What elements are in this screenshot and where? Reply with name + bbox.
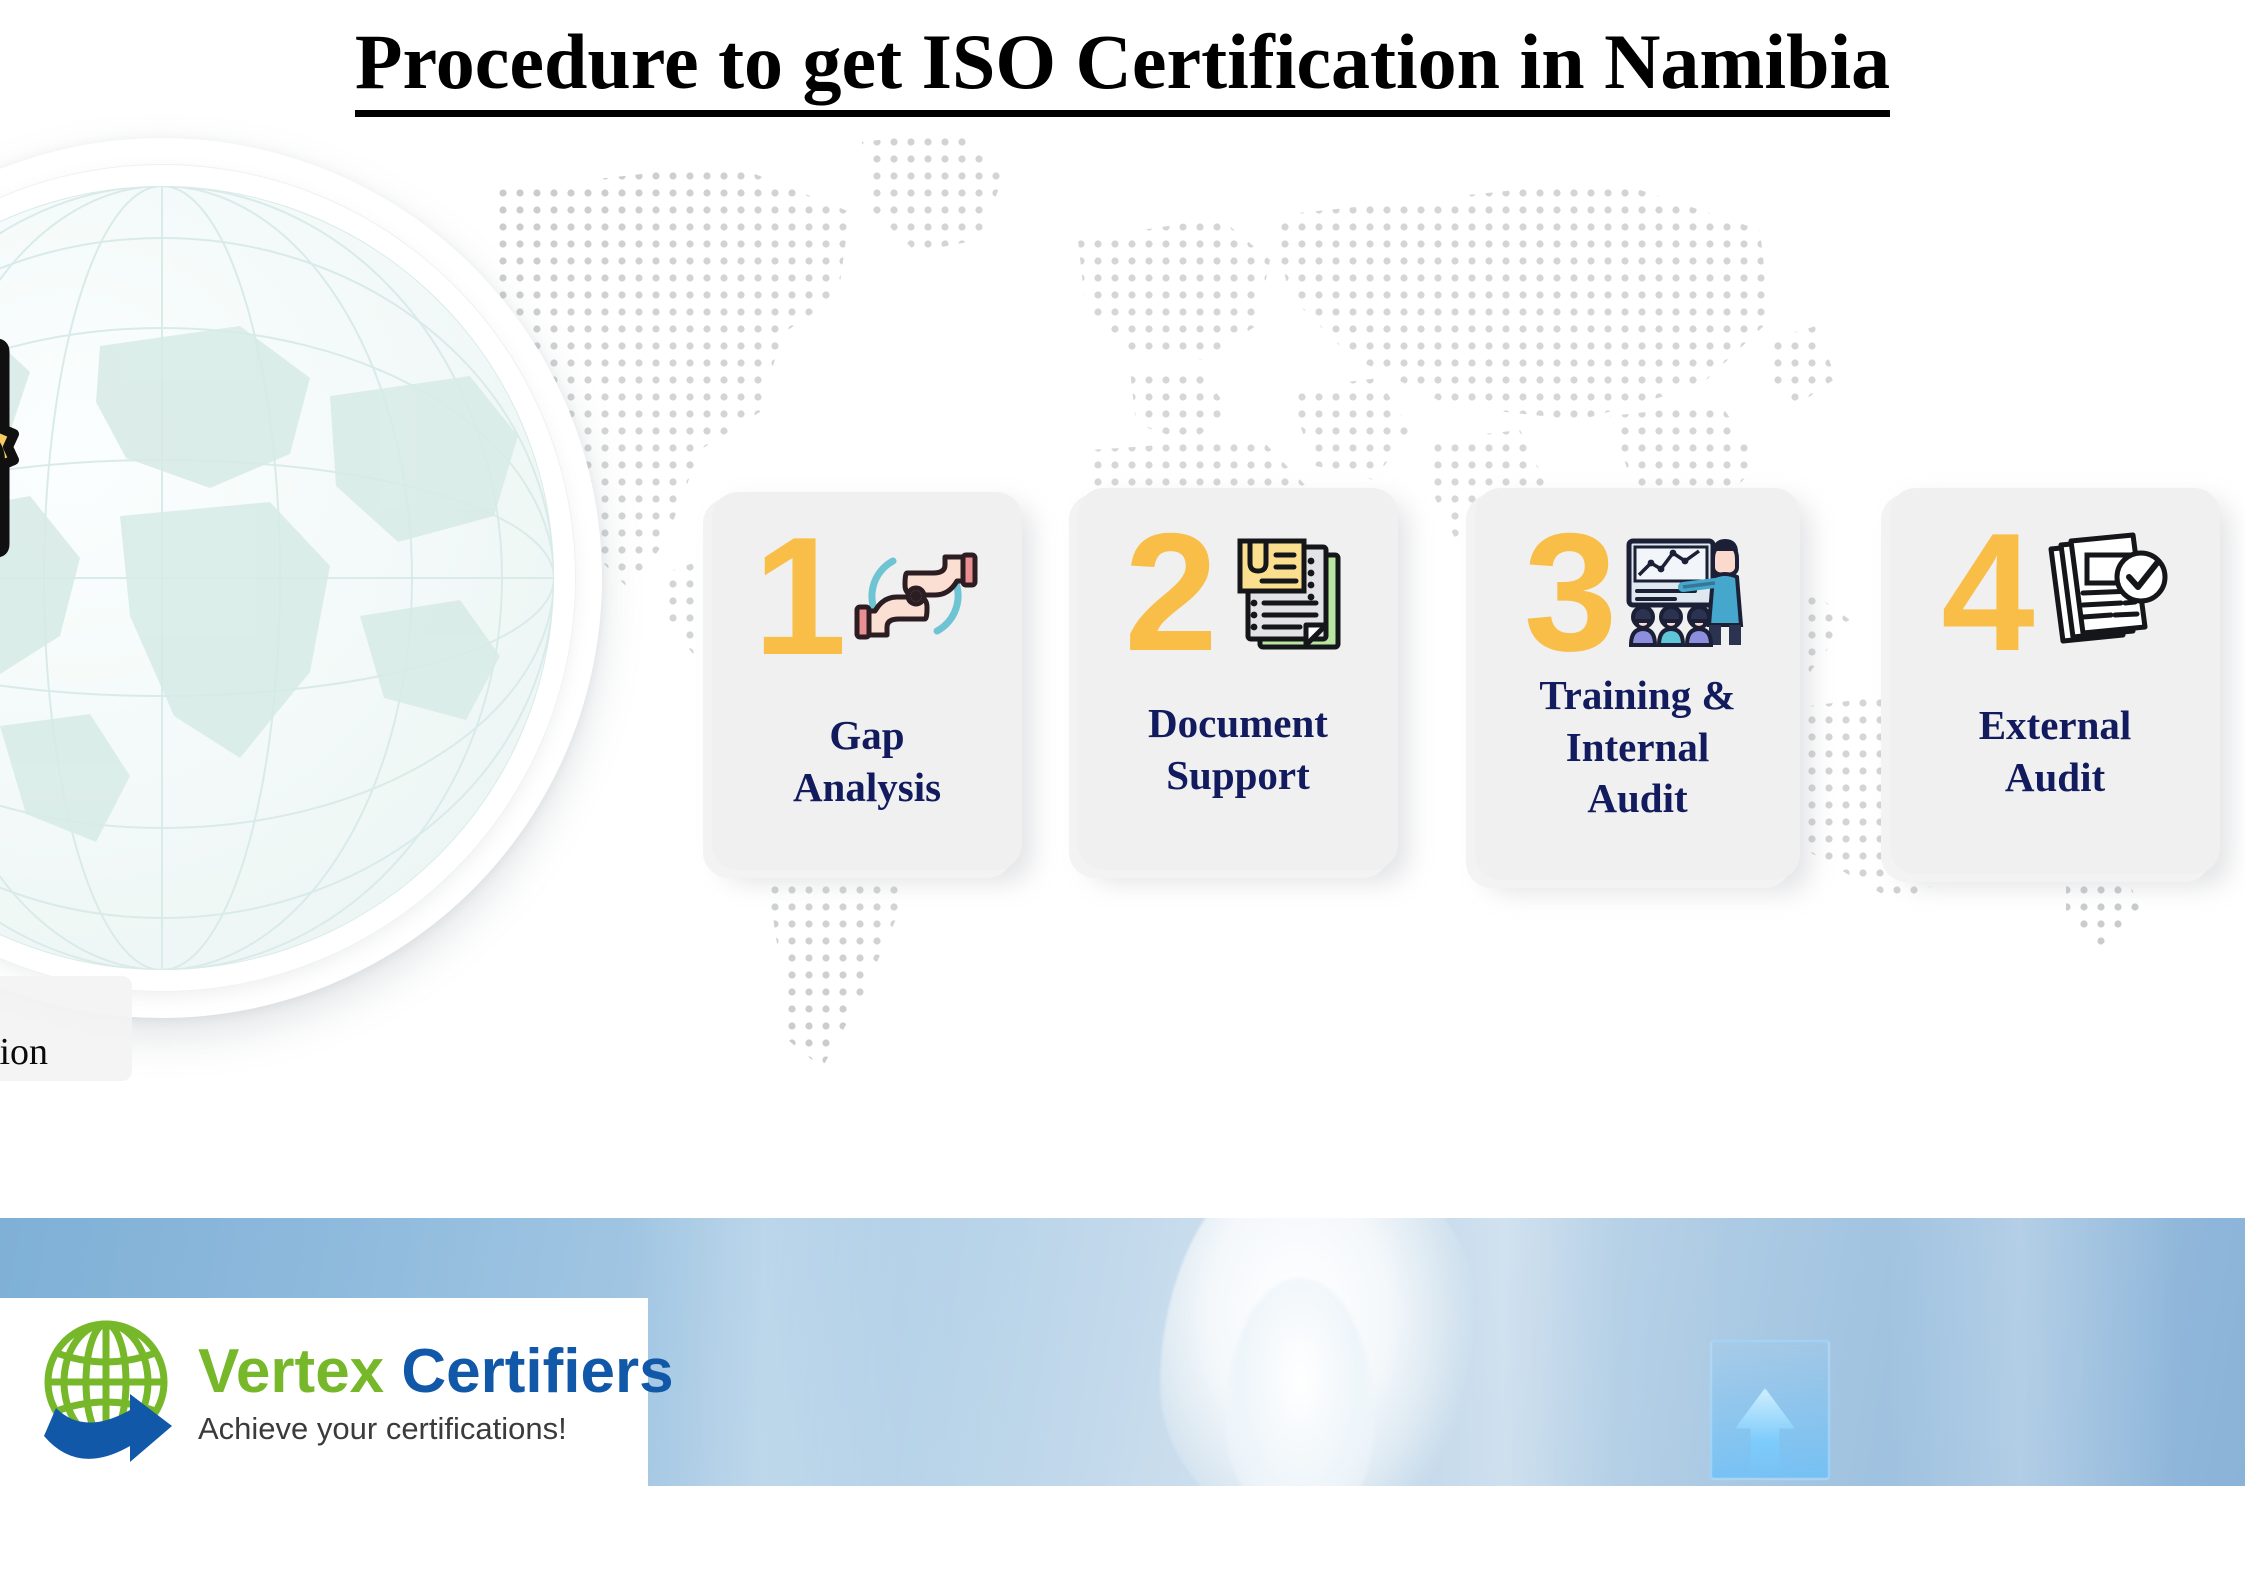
documents-paperclip-icon	[1220, 529, 1352, 655]
step-number-2: 2	[1124, 517, 1213, 667]
logo-tagline: Achieve your certifications!	[198, 1409, 674, 1449]
step-label-3: Training & Internal Audit	[1475, 670, 1800, 825]
step-card-document-support[interactable]: 2	[1078, 488, 1398, 870]
step-number-3: 3	[1524, 517, 1613, 667]
step-number-4: 4	[1941, 517, 2030, 667]
step-label-3-line2: Internal	[1483, 722, 1792, 774]
step-card-header: 4	[1890, 512, 2220, 672]
step-card-external-audit[interactable]: 4	[1890, 488, 2220, 874]
page-title-wrapper: Procedure to get ISO Certification in Na…	[0, 16, 2245, 117]
page-title: Procedure to get ISO Certification in Na…	[355, 16, 1890, 117]
logo-word-certifiers: Certifiers	[401, 1337, 673, 1406]
step-label-4: External Audit	[1890, 700, 2220, 803]
globe-ring	[0, 164, 576, 992]
step-label-3-line3: Audit	[1483, 773, 1792, 825]
step-label-1-line1: Gap	[720, 710, 1014, 762]
globe-graphic	[0, 186, 554, 970]
step-number-1: 1	[753, 521, 842, 671]
iso-certification-globe: ISO Certification	[0, 138, 602, 1018]
iso-label-line2: Certification	[0, 1029, 48, 1075]
step-card-header: 3	[1475, 512, 1800, 672]
step-card-header: 1	[712, 516, 1022, 676]
step-label-4-line2: Audit	[1898, 752, 2212, 804]
globe-arrow-logo-icon	[26, 1310, 194, 1478]
step-card-training-internal-audit[interactable]: 3	[1475, 488, 1800, 880]
step-label-2-line1: Document	[1086, 698, 1390, 750]
step-label-2: Document Support	[1078, 698, 1398, 801]
training-presentation-icon	[1619, 529, 1751, 655]
step-label-1-line2: Analysis	[720, 762, 1014, 814]
step-card-gap-analysis[interactable]: 1	[712, 492, 1022, 870]
documents-checkmark-icon	[2037, 529, 2169, 655]
step-label-3-line1: Training &	[1483, 670, 1792, 722]
step-label-1: Gap Analysis	[712, 710, 1022, 813]
brand-logo[interactable]: Vertex Certifiers Achieve your certifica…	[0, 1298, 648, 1490]
step-label-2-line2: Support	[1086, 750, 1390, 802]
infographic-canvas: Procedure to get ISO Certification in Na…	[0, 0, 2245, 1587]
iso-certification-label: ISO Certification	[0, 976, 132, 1081]
step-label-4-line1: External	[1898, 700, 2212, 752]
logo-word-vertex: Vertex	[198, 1337, 384, 1406]
logo-title: Vertex Certifiers	[198, 1339, 674, 1405]
logo-text-block: Vertex Certifiers Achieve your certifica…	[198, 1339, 674, 1449]
step-card-header: 2	[1078, 512, 1398, 672]
iso-certificate-icon	[0, 322, 42, 582]
handshake-partnership-icon	[849, 533, 981, 659]
